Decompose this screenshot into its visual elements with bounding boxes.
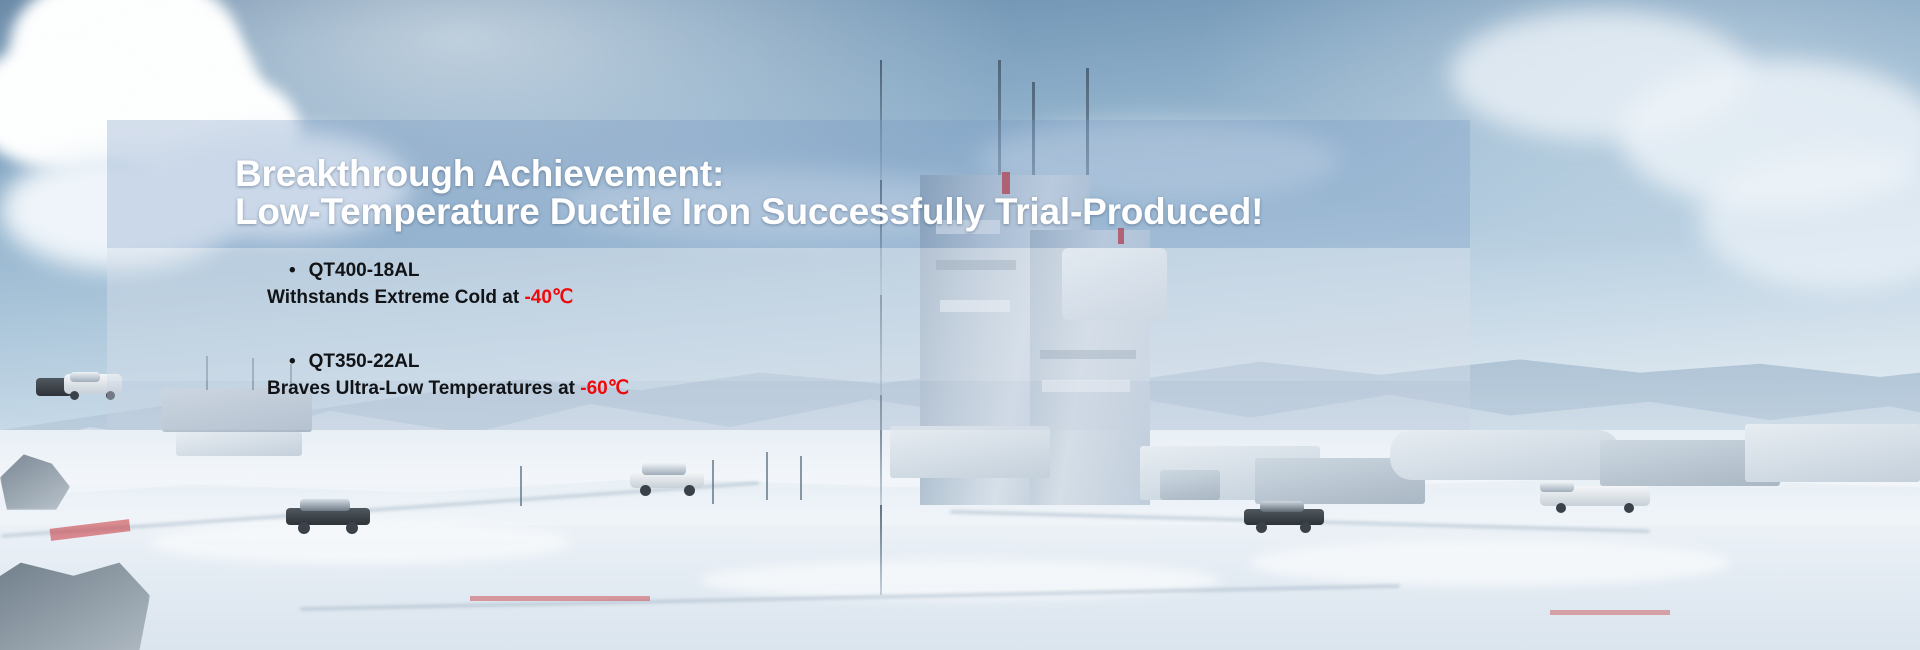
ground-marker bbox=[1550, 610, 1670, 615]
material-grade-label: QT350-22AL bbox=[309, 349, 420, 374]
ground-marker bbox=[470, 596, 650, 601]
bullet-heading-row: • QT350-22AL bbox=[285, 349, 1385, 374]
outpost-building bbox=[1160, 470, 1220, 500]
utility-pole bbox=[800, 456, 802, 500]
temperature-value: -60℃ bbox=[580, 378, 629, 399]
utility-pole bbox=[712, 460, 714, 504]
title-line-1: Breakthrough Achievement: bbox=[235, 155, 1485, 193]
bullet-description: Braves Ultra-Low Temperatures at -60℃ bbox=[267, 376, 1385, 402]
temperature-value: -40℃ bbox=[524, 287, 573, 308]
banner-title: Breakthrough Achievement: Low-Temperatur… bbox=[235, 155, 1485, 231]
promo-banner: Breakthrough Achievement: Low-Temperatur… bbox=[0, 0, 1920, 650]
bullet-description-text: Braves Ultra-Low Temperatures at bbox=[267, 378, 580, 399]
outpost-building bbox=[1745, 424, 1920, 482]
bullet-group: • QT350-22AL Braves Ultra-Low Temperatur… bbox=[285, 349, 1385, 402]
vehicle-sedan bbox=[1244, 500, 1324, 532]
outpost-building bbox=[176, 432, 302, 456]
vehicle-suv bbox=[630, 462, 704, 494]
outpost-building bbox=[890, 426, 1050, 478]
bullet-marker-icon: • bbox=[289, 258, 296, 283]
title-line-2: Low-Temperature Ductile Iron Successfull… bbox=[235, 193, 1485, 231]
bullet-heading-row: • QT400-18AL bbox=[285, 258, 1385, 283]
bullet-description: Withstands Extreme Cold at -40℃ bbox=[267, 285, 1385, 311]
vehicle-truck bbox=[1540, 482, 1650, 512]
snow-drift bbox=[1250, 540, 1730, 586]
utility-pole bbox=[520, 466, 522, 506]
outpost-building bbox=[1390, 430, 1620, 480]
antenna-mast bbox=[880, 505, 882, 595]
bullet-marker-icon: • bbox=[289, 349, 296, 374]
bullet-group: • QT400-18AL Withstands Extreme Cold at … bbox=[285, 258, 1385, 311]
utility-pole bbox=[766, 452, 768, 500]
bullet-description-text: Withstands Extreme Cold at bbox=[267, 287, 524, 308]
bullet-list: • QT400-18AL Withstands Extreme Cold at … bbox=[285, 258, 1385, 425]
material-grade-label: QT400-18AL bbox=[309, 258, 420, 283]
vehicle-suv bbox=[286, 498, 370, 532]
